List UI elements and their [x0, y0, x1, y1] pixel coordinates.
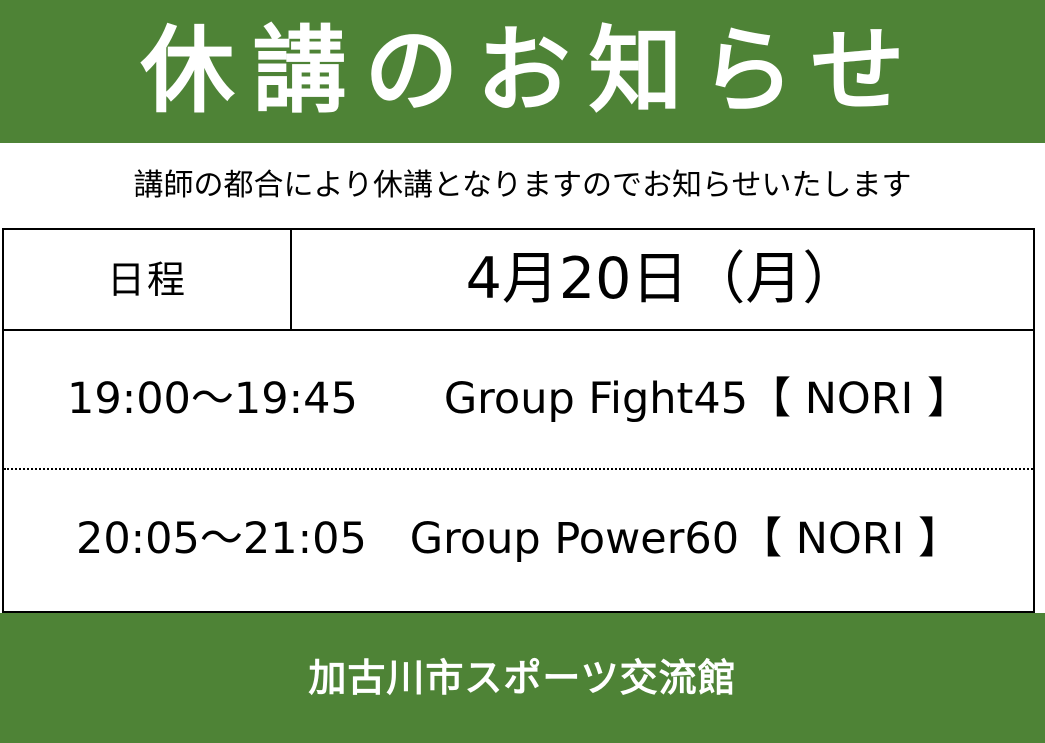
table-row-date: 日程 4月20日（月）	[4, 230, 1033, 331]
schedule-table: 日程 4月20日（月） 19:00〜19:45 Group Fight45【 N…	[2, 228, 1035, 613]
subtitle-band: 講師の都合により休講となりますのでお知らせいたします	[0, 143, 1045, 229]
table-row-class-1: 19:00〜19:45 Group Fight45【 NORI 】	[4, 331, 1033, 470]
subtitle-text: 講師の都合により休講となりますのでお知らせいたします	[134, 171, 912, 201]
class-line-text: 20:05〜21:05 Group Power60【 NORI 】	[76, 518, 961, 561]
date-label-text: 日程	[107, 261, 187, 299]
page-title: 休講のお知らせ	[122, 25, 922, 119]
cancellation-notice-poster: 休講のお知らせ 講師の都合により休講となりますのでお知らせいたします 日程 4月…	[0, 0, 1045, 743]
date-value-text: 4月20日（月）	[466, 251, 860, 308]
venue-name: 加古川市スポーツ交流館	[308, 659, 736, 697]
footer-banner: 加古川市スポーツ交流館	[0, 613, 1045, 743]
class-line-text: 19:00〜19:45 Group Fight45【 NORI 】	[67, 378, 970, 421]
date-value-cell: 4月20日（月）	[292, 230, 1033, 329]
date-label-cell: 日程	[4, 230, 292, 329]
header-banner: 休講のお知らせ	[0, 0, 1045, 143]
table-row-class-2: 20:05〜21:05 Group Power60【 NORI 】	[4, 470, 1033, 609]
